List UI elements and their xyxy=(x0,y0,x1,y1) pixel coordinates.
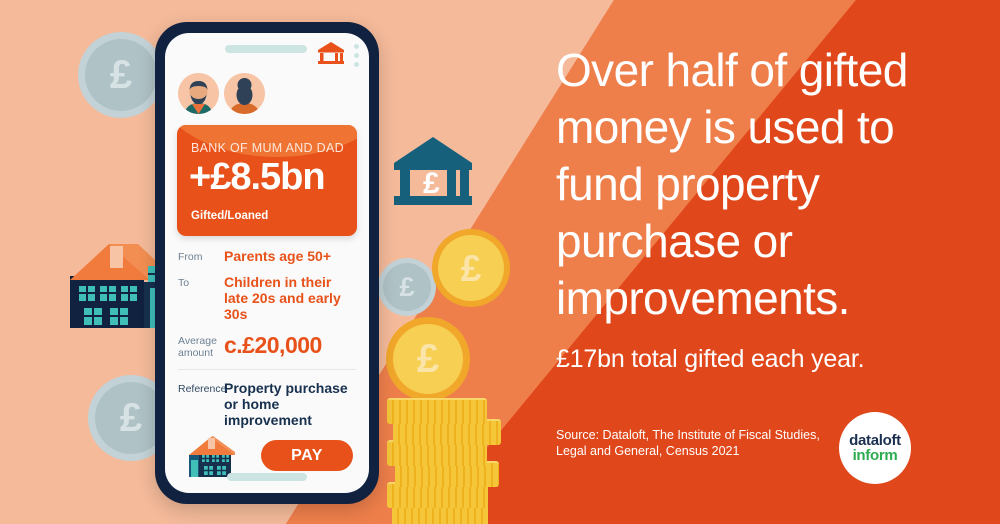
detail-row-average-amount: Average amount c.£20,000 xyxy=(165,332,369,359)
detail-row-to: To Children in their late 20s and early … xyxy=(165,274,369,322)
money-card: BANK OF MUM AND DAD +£8.5bn Gifted/Loane… xyxy=(177,125,357,236)
avatar[interactable] xyxy=(224,73,265,114)
logo-line-1: dataloft xyxy=(849,433,901,448)
pay-button[interactable]: PAY xyxy=(261,440,353,471)
dataloft-inform-logo: dataloft inform xyxy=(839,412,911,484)
gold-coin-stack xyxy=(387,398,505,524)
logo-line-2: inform xyxy=(853,448,898,464)
headline: Over half of gifted money is used to fun… xyxy=(556,42,976,327)
speaker-pill xyxy=(225,45,307,53)
subheadline: £17bn total gifted each year. xyxy=(556,344,976,374)
infographic-canvas: £ £ £ £ £ £ xyxy=(0,0,1000,524)
detail-label: Reference xyxy=(178,380,224,428)
silver-coin-right: £ xyxy=(378,258,436,316)
phone-screen: £ xyxy=(165,33,369,493)
detail-value: Children in their late 20s and early 30s xyxy=(224,274,356,322)
transaction-details: From Parents age 50+ To Children in thei… xyxy=(165,248,369,438)
detail-label: To xyxy=(178,274,224,322)
money-card-amount: +£8.5bn xyxy=(189,156,325,199)
money-card-subtitle: Gifted/Loaned xyxy=(191,210,268,222)
stack-coin xyxy=(387,398,487,424)
detail-row-from: From Parents age 50+ xyxy=(165,248,369,264)
bank-building-icon: £ xyxy=(317,41,345,65)
svg-text:£: £ xyxy=(423,167,440,200)
detail-value: Property purchase or home improvement xyxy=(224,380,356,428)
pound-sign: £ xyxy=(461,250,482,287)
detail-label: From xyxy=(178,248,224,264)
gold-coin-upper: £ xyxy=(432,229,510,307)
avatar[interactable] xyxy=(178,73,219,114)
pound-sign: £ xyxy=(110,55,132,95)
kebab-menu-icon[interactable] xyxy=(354,44,359,71)
detail-row-reference: Reference Property purchase or home impr… xyxy=(165,380,369,428)
svg-text:£: £ xyxy=(326,53,332,64)
divider xyxy=(178,369,356,370)
money-card-title: BANK OF MUM AND DAD xyxy=(191,141,344,155)
pound-sign: £ xyxy=(120,398,142,438)
source-citation: Source: Dataloft, The Institute of Fisca… xyxy=(556,427,826,459)
pound-sign: £ xyxy=(399,274,414,301)
bank-building-icon: £ xyxy=(392,133,474,211)
home-indicator xyxy=(227,473,307,481)
silver-coin-top-left: £ xyxy=(78,32,164,118)
gold-coin-lower: £ xyxy=(386,317,470,401)
detail-label: Average amount xyxy=(178,332,224,359)
phone-status-bar: £ xyxy=(165,33,369,65)
detail-value: Parents age 50+ xyxy=(224,248,356,264)
pound-sign: £ xyxy=(417,339,439,379)
phone-mockup: £ xyxy=(155,22,379,504)
detail-value: c.£20,000 xyxy=(224,332,356,359)
